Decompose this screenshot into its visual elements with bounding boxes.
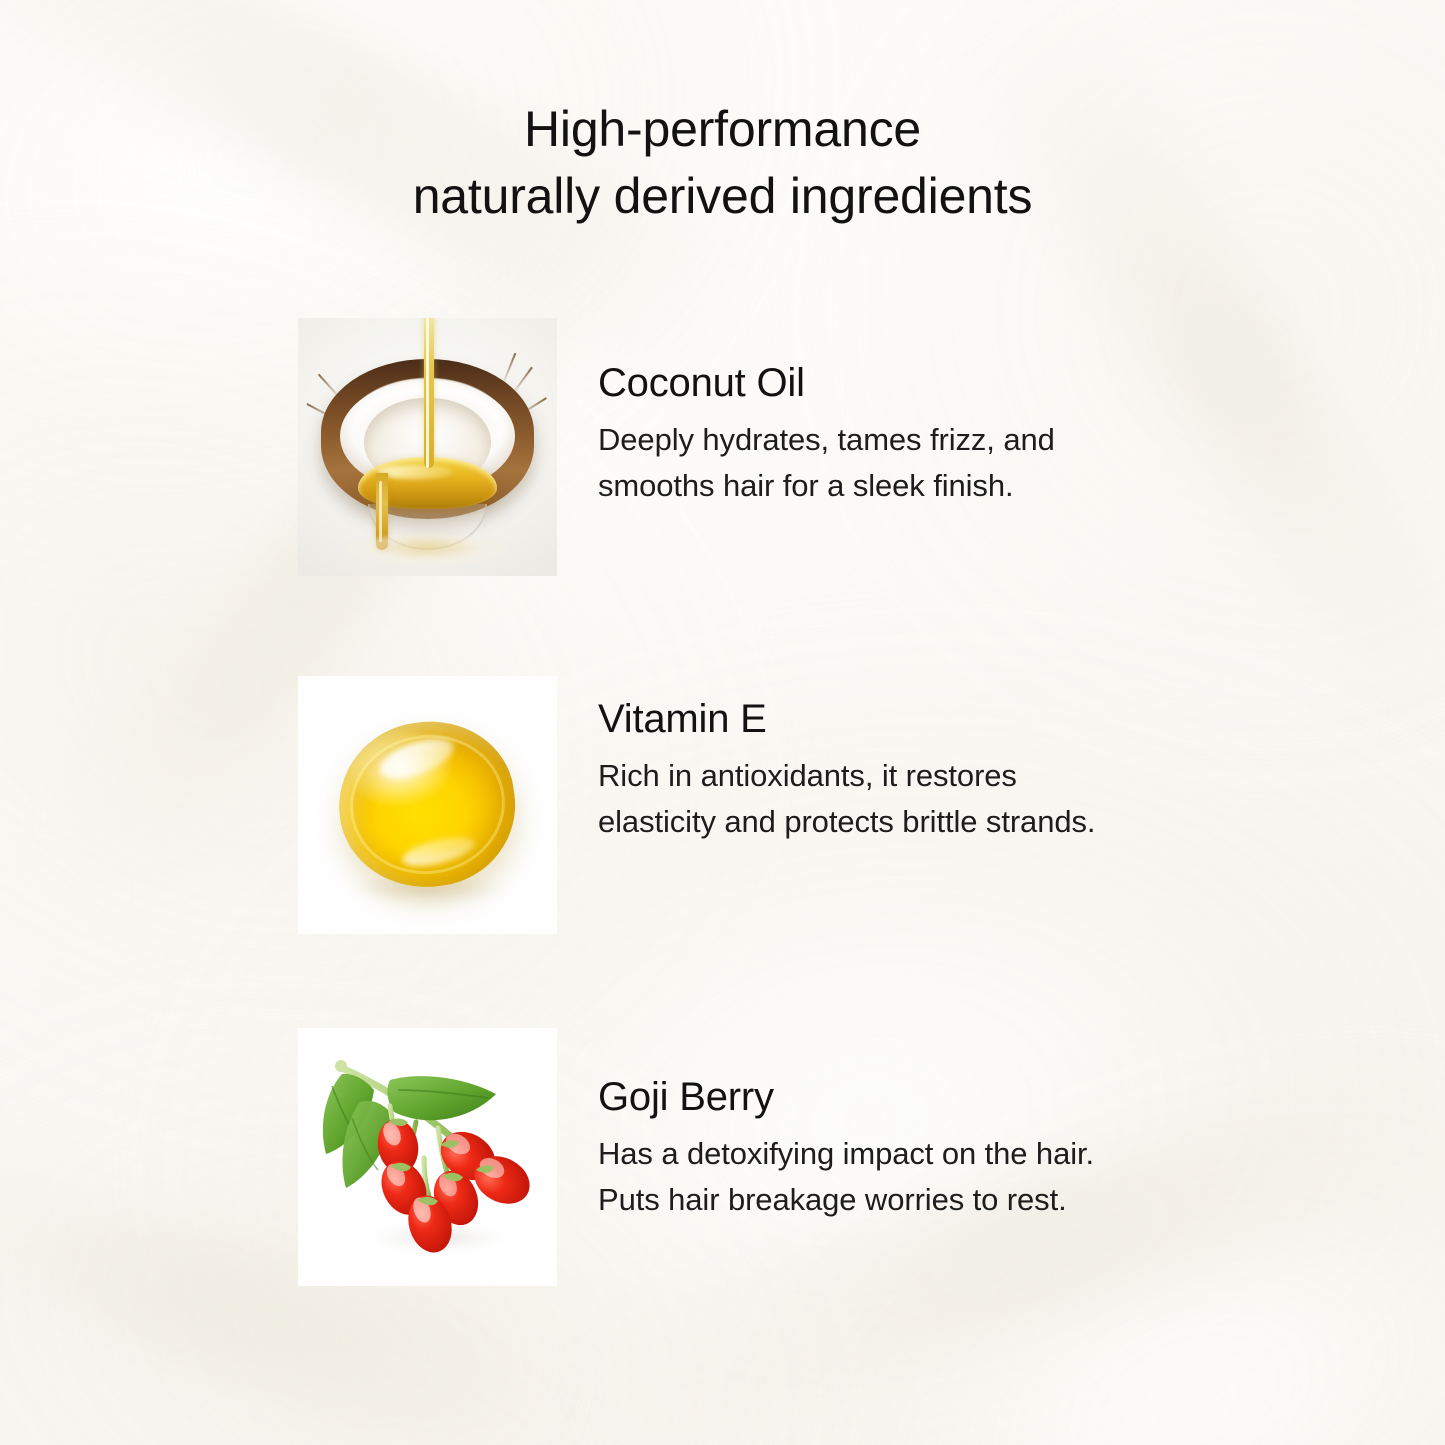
ingredients-infographic: High-performance naturally derived ingre… [0, 0, 1445, 1445]
ingredient-description: Deeply hydrates, tames frizz, and smooth… [598, 417, 1055, 508]
vitamin-e-illustration [298, 676, 557, 934]
vitamin-e-copy: Vitamin E Rich in antioxidants, it resto… [557, 676, 1095, 844]
ingredient-description: Has a detoxifying impact on the hair. Pu… [598, 1131, 1094, 1222]
ingredient-description: Rich in antioxidants, it restores elasti… [598, 753, 1095, 844]
coconut-oil-illustration [298, 318, 557, 576]
goji-berry-copy: Goji Berry Has a detoxifying impact on t… [557, 1028, 1094, 1222]
page-title-line-2: naturally derived ingredients [0, 163, 1445, 230]
goji-berry-illustration [298, 1028, 557, 1286]
ingredient-name: Coconut Oil [598, 362, 1055, 405]
coconut-oil-photo [298, 318, 557, 576]
page-title: High-performance naturally derived ingre… [0, 96, 1445, 230]
ingredient-name: Vitamin E [598, 698, 1095, 741]
ingredient-name: Goji Berry [598, 1076, 1094, 1119]
ingredient-row-coconut-oil: Coconut Oil Deeply hydrates, tames frizz… [298, 318, 1055, 576]
coconut-oil-copy: Coconut Oil Deeply hydrates, tames frizz… [557, 318, 1055, 508]
ingredient-row-goji-berry: Goji Berry Has a detoxifying impact on t… [298, 1028, 1094, 1286]
page-title-line-1: High-performance [524, 101, 921, 157]
ingredient-row-vitamin-e: Vitamin E Rich in antioxidants, it resto… [298, 676, 1095, 934]
vitamin-e-capsule-photo [298, 676, 557, 934]
goji-berry-photo [298, 1028, 557, 1286]
